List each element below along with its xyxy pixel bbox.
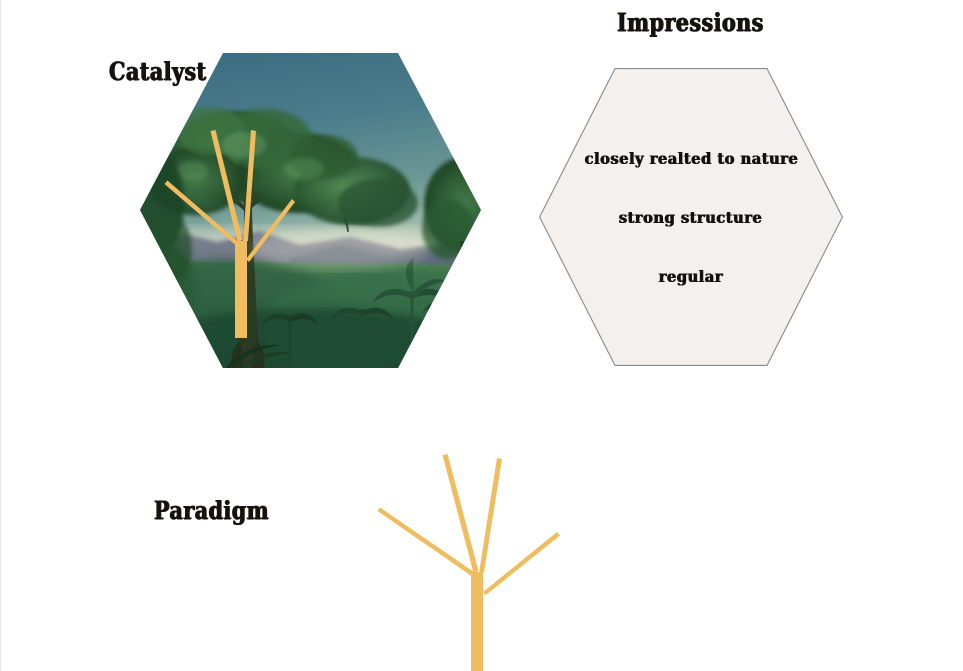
paradigm-tree-diagram[interactable] bbox=[361, 440, 601, 671]
artboard: closely realted to nature strong structu… bbox=[1, 0, 963, 671]
hexagon-outline bbox=[540, 69, 843, 366]
impressions-hexagon-tile[interactable] bbox=[539, 68, 843, 366]
paradigm-tree-svg bbox=[361, 440, 601, 671]
catalyst-hexagon-svg bbox=[140, 53, 481, 368]
impressions-hexagon-svg bbox=[539, 68, 843, 366]
page-label-catalyst: Catalyst bbox=[109, 57, 207, 86]
rainforest-painting bbox=[110, 53, 520, 408]
catalyst-hexagon-tile[interactable] bbox=[140, 53, 481, 368]
page-label-paradigm: Paradigm bbox=[154, 496, 269, 525]
page-label-impressions: Impressions bbox=[617, 8, 764, 37]
overlay-trunk bbox=[235, 241, 247, 338]
paradigm-branch-upper-right bbox=[479, 458, 502, 573]
paradigm-branch-lower-right bbox=[483, 532, 560, 595]
paradigm-trunk bbox=[471, 572, 483, 671]
